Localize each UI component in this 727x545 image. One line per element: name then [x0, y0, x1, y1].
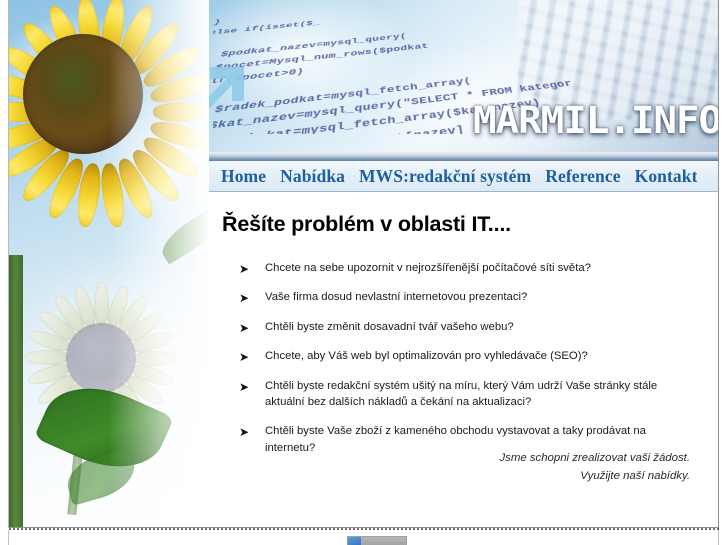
list-item: ➤Chtěli byste změnit dosavadní tvář vaše… — [237, 319, 689, 335]
closing-line-1: Jsme schopni zrealizovat vaši žádost. — [499, 450, 690, 468]
list-item-text: Chcete, aby Váš web byl optimalizován pr… — [265, 350, 588, 362]
nav-item-home[interactable]: Home — [221, 166, 266, 187]
closing-line-2: Využijte naší nabídky. — [499, 468, 690, 486]
green-stem-band — [9, 255, 23, 527]
list-item: ➤Chcete, aby Váš web byl optimalizován p… — [237, 348, 689, 364]
nav-item-mws-redakcni-system[interactable]: MWS:redakční systém — [359, 166, 531, 187]
site-logo[interactable]: MARMIL.INFO — [480, 96, 714, 144]
page-root: } else if(isset($_ { $podkat_nazev=mysql… — [0, 0, 727, 545]
nav-top-gradient-strip — [209, 152, 718, 161]
page-title: Řešíte problém v oblasti IT.... — [222, 212, 511, 237]
list-item-text: Vaše firma dosud nevlastní internetovou … — [265, 291, 527, 303]
footer-badge[interactable] — [347, 536, 407, 545]
nav-item-reference[interactable]: Reference — [545, 166, 620, 187]
nav-item-nabidka[interactable]: Nabídka — [280, 166, 345, 187]
logo-text: MARMIL.INFO — [473, 99, 718, 142]
photo-white-fade — [109, 0, 209, 527]
right-triangle-arrow-icon: ➤ — [239, 424, 249, 441]
right-triangle-arrow-icon: ➤ — [239, 320, 249, 337]
sunflower-petal — [25, 351, 69, 359]
list-item-text: Chtěli byste změnit dosavadní tvář vašeh… — [265, 321, 514, 333]
nav-item-kontakt[interactable]: Kontakt — [635, 166, 698, 187]
list-item-text: Chtěli byste redakční systém ušitý na mí… — [265, 380, 657, 408]
badge-icon — [348, 537, 361, 545]
closing-note: Jsme schopni zrealizovat vaši žádost. Vy… — [499, 450, 690, 485]
list-item: ➤Chtěli byste redakční systém ušitý na m… — [237, 378, 689, 411]
diagonal-up-right-arrow-icon — [209, 45, 260, 141]
main-content: Řešíte problém v oblasti IT.... ➤Chcete … — [209, 192, 718, 527]
right-triangle-arrow-icon: ➤ — [239, 261, 249, 278]
right-triangle-arrow-icon: ➤ — [239, 379, 249, 396]
list-item: ➤Vaše firma dosud nevlastní internetovou… — [237, 289, 689, 305]
list-item: ➤Chcete na sebe upozornit v nejrozšířeně… — [237, 260, 689, 276]
list-item-text: Chcete na sebe upozornit v nejrozšířeněj… — [265, 262, 591, 274]
right-triangle-arrow-icon: ➤ — [239, 349, 249, 366]
sunflower-photo-column — [9, 0, 209, 527]
badge-label-bar — [361, 537, 406, 545]
right-triangle-arrow-icon: ➤ — [239, 290, 249, 307]
main-navigation: HomeNabídkaMWS:redakční systémReferenceK… — [209, 161, 718, 192]
site-header: } else if(isset($_ { $podkat_nazev=mysql… — [209, 0, 718, 152]
benefits-list: ➤Chcete na sebe upozornit v nejrozšířeně… — [237, 260, 689, 469]
